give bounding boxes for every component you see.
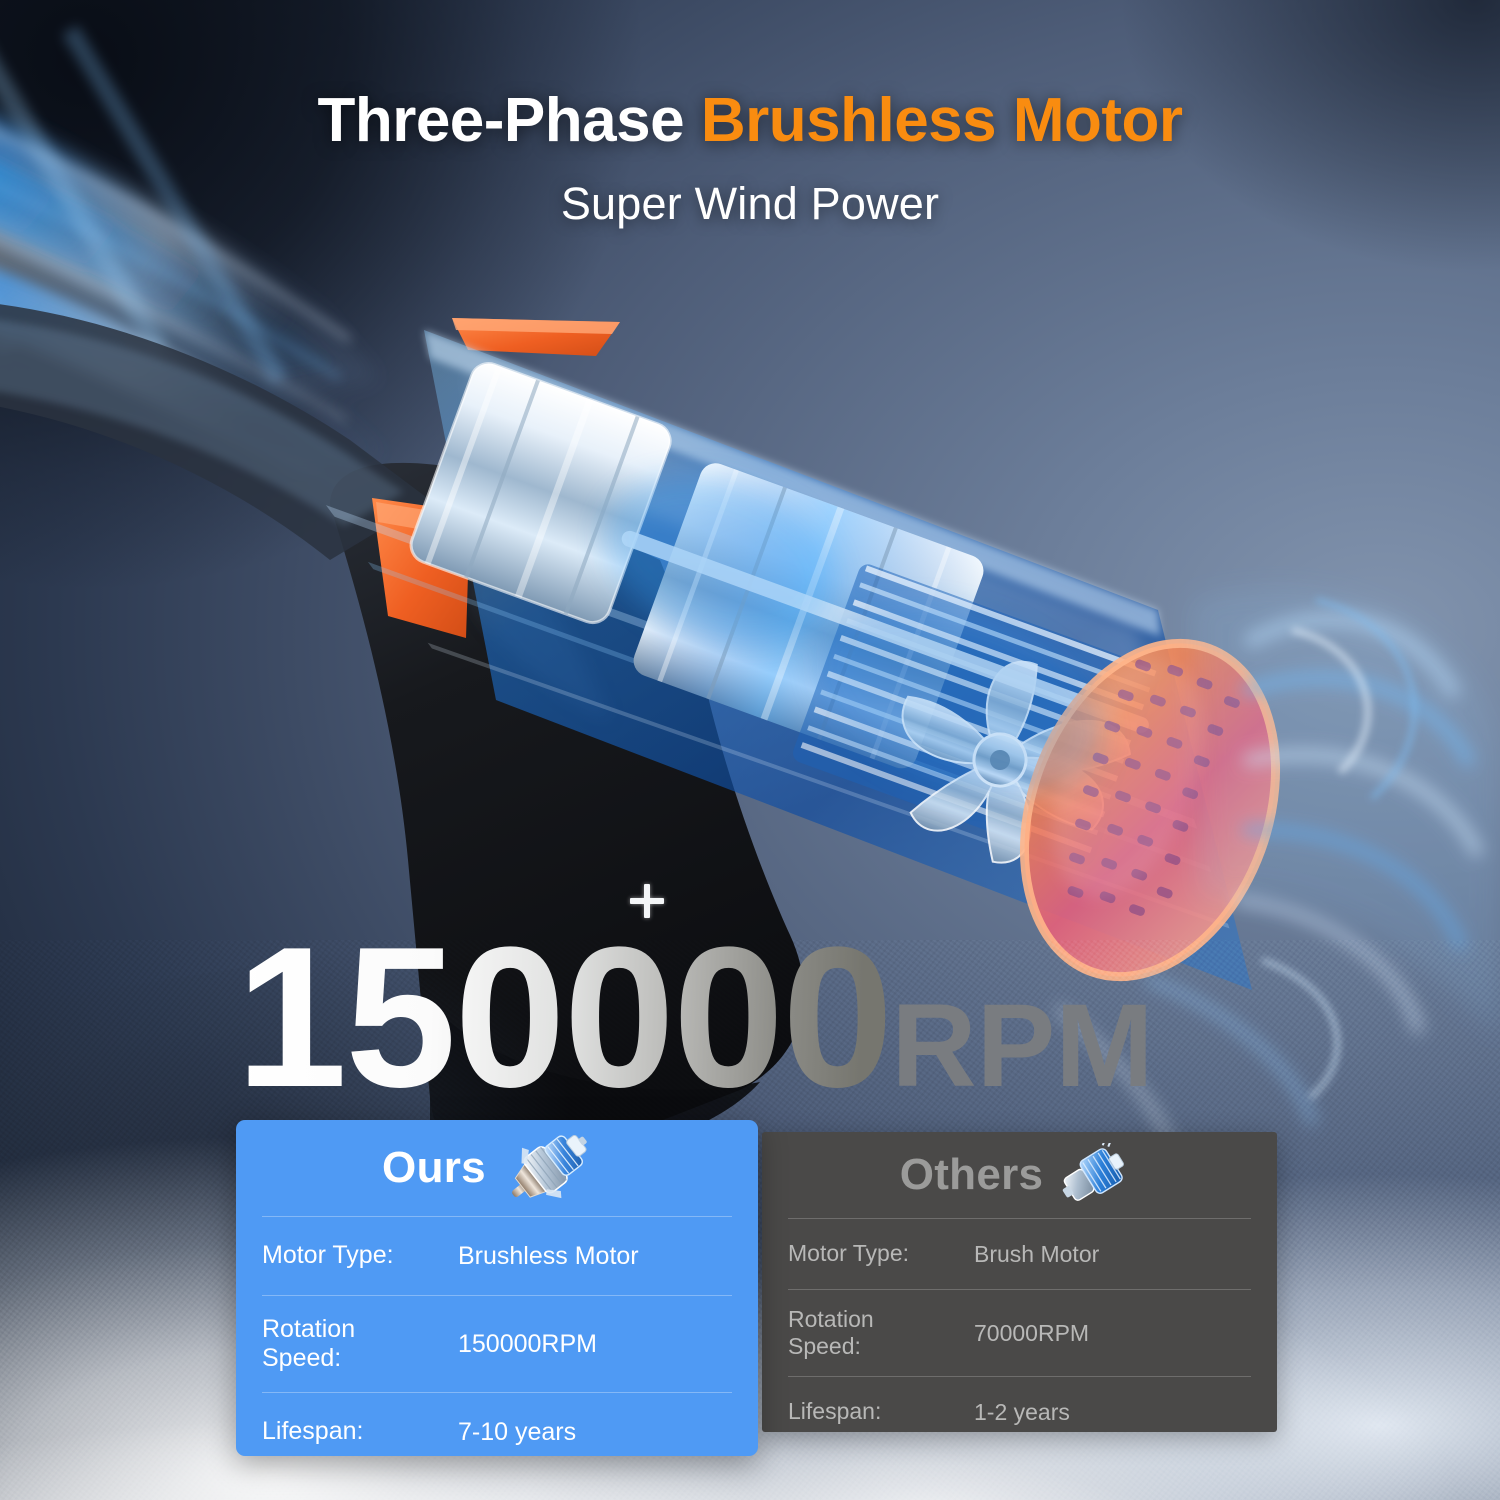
table-row: Lifespan: 7-10 years [262,1392,732,1471]
brush-motor-icon [1057,1143,1129,1207]
page-title: Three-Phase Brushless Motor [0,88,1500,155]
row-label: Motor Type: [262,1241,458,1271]
hero-stat: 150000RPM [236,918,1154,1118]
hero-stat-unit: RPM [891,980,1153,1112]
row-value: Brushless Motor [458,1242,639,1271]
table-row: Motor Type: Brushless Motor [262,1216,732,1295]
table-row: RotationSpeed: 150000RPM [262,1295,732,1392]
headline-accent: Brushless Motor [701,86,1183,155]
ours-panel-title: Ours [382,1143,486,1193]
brushless-motor-icon [500,1128,596,1208]
row-value: Brush Motor [974,1241,1099,1268]
ours-panel-header: Ours [236,1120,758,1216]
row-label-line1: Rotation [262,1315,355,1343]
others-spec-rows: Motor Type: Brush Motor RotationSpeed: 7… [762,1218,1277,1447]
page-subtitle: Super Wind Power [0,178,1500,230]
product-marketing-banner: Three-Phase Brushless Motor Super Wind P… [0,0,1500,1500]
table-row: Lifespan: 1-2 years [788,1376,1251,1447]
row-label: Motor Type: [788,1240,974,1267]
row-label: RotationSpeed: [788,1306,974,1360]
comparison-panel-others: Others [762,1132,1277,1432]
others-panel-header: Others [762,1132,1277,1218]
table-row: Motor Type: Brush Motor [788,1218,1251,1289]
ours-spec-rows: Motor Type: Brushless Motor RotationSpee… [236,1216,758,1471]
row-value: 7-10 years [458,1418,576,1447]
others-panel-title: Others [900,1150,1044,1200]
row-value: 150000RPM [458,1330,597,1359]
headline-primary: Three-Phase [317,86,700,155]
row-label-line2: Speed: [788,1333,861,1359]
row-label: Lifespan: [788,1398,974,1425]
comparison-panel-ours: Ours [236,1120,758,1456]
row-value: 70000RPM [974,1320,1089,1347]
row-label-line2: Speed: [262,1344,341,1372]
table-row: RotationSpeed: 70000RPM [788,1289,1251,1376]
row-value: 1-2 years [974,1399,1070,1426]
row-label-line1: Rotation [788,1306,874,1332]
row-label: Lifespan: [262,1417,458,1447]
row-label: RotationSpeed: [262,1315,458,1374]
hero-stat-number: 150000 [236,906,891,1129]
